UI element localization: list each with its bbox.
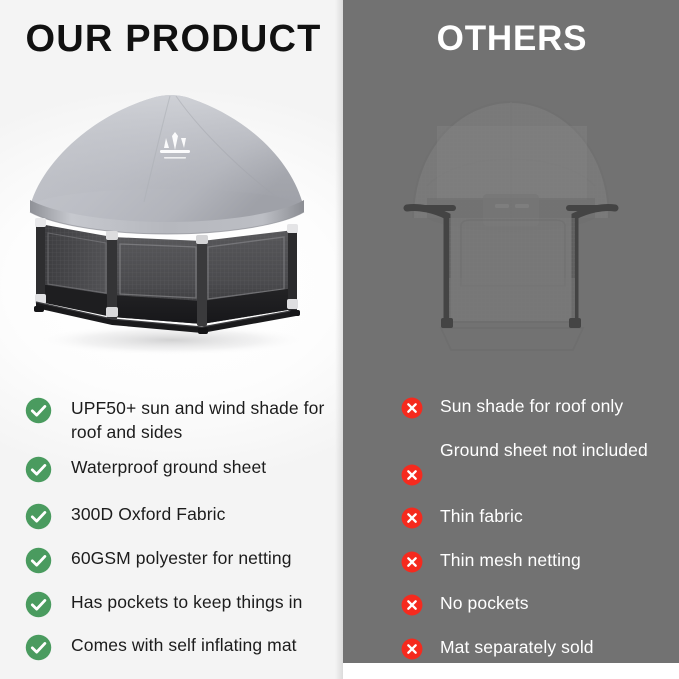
check-icon — [25, 503, 52, 530]
cross-icon — [401, 594, 423, 616]
feature-label: 60GSM polyester for netting — [71, 546, 292, 570]
our-product-image — [12, 88, 332, 358]
check-icon — [25, 397, 52, 424]
feature-label: 300D Oxford Fabric — [71, 502, 226, 526]
feature-item: Thin fabric — [401, 504, 673, 529]
feature-label: UPF50+ sun and wind shade for roof and s… — [71, 396, 333, 444]
cross-icon — [401, 551, 423, 573]
feature-item: 300D Oxford Fabric — [25, 502, 333, 530]
comparison-infographic: OUR PRODUCT — [0, 0, 679, 679]
cross-icon — [401, 464, 423, 486]
feature-label: Has pockets to keep things in — [71, 590, 303, 614]
check-icon — [25, 634, 52, 661]
feature-item: Comes with self inflating mat — [25, 633, 333, 661]
cross-icon — [401, 638, 423, 660]
others-product-image — [365, 90, 657, 362]
check-icon — [25, 547, 52, 574]
feature-item: 60GSM polyester for netting — [25, 546, 333, 574]
feature-label: Sun shade for roof only — [440, 394, 623, 418]
check-icon — [25, 456, 52, 483]
feature-item: Ground sheet not included — [401, 438, 673, 486]
cross-icon — [401, 397, 423, 419]
feature-label: Comes with self inflating mat — [71, 633, 297, 657]
check-icon — [25, 591, 52, 618]
feature-item: Waterproof ground sheet — [25, 455, 333, 483]
feature-item: Thin mesh netting — [401, 548, 673, 573]
feature-item: No pockets — [401, 591, 673, 616]
feature-label: Thin fabric — [440, 504, 523, 528]
feature-item: Has pockets to keep things in — [25, 590, 333, 618]
our-product-heading: OUR PRODUCT — [2, 18, 343, 61]
feature-label: Ground sheet not included — [440, 438, 648, 462]
others-heading: OTHERS — [344, 19, 679, 59]
feature-label: Mat separately sold — [440, 635, 594, 659]
others-panel: OTHERS — [343, 0, 679, 679]
feature-item: UPF50+ sun and wind shade for roof and s… — [25, 396, 333, 444]
feature-label: Thin mesh netting — [440, 548, 581, 572]
feature-item: Sun shade for roof only — [401, 394, 673, 419]
feature-label: No pockets — [440, 591, 529, 615]
feature-label: Waterproof ground sheet — [71, 455, 266, 479]
feature-item: Mat separately sold — [401, 635, 673, 660]
cross-icon — [401, 507, 423, 529]
our-product-panel: OUR PRODUCT — [0, 0, 343, 679]
